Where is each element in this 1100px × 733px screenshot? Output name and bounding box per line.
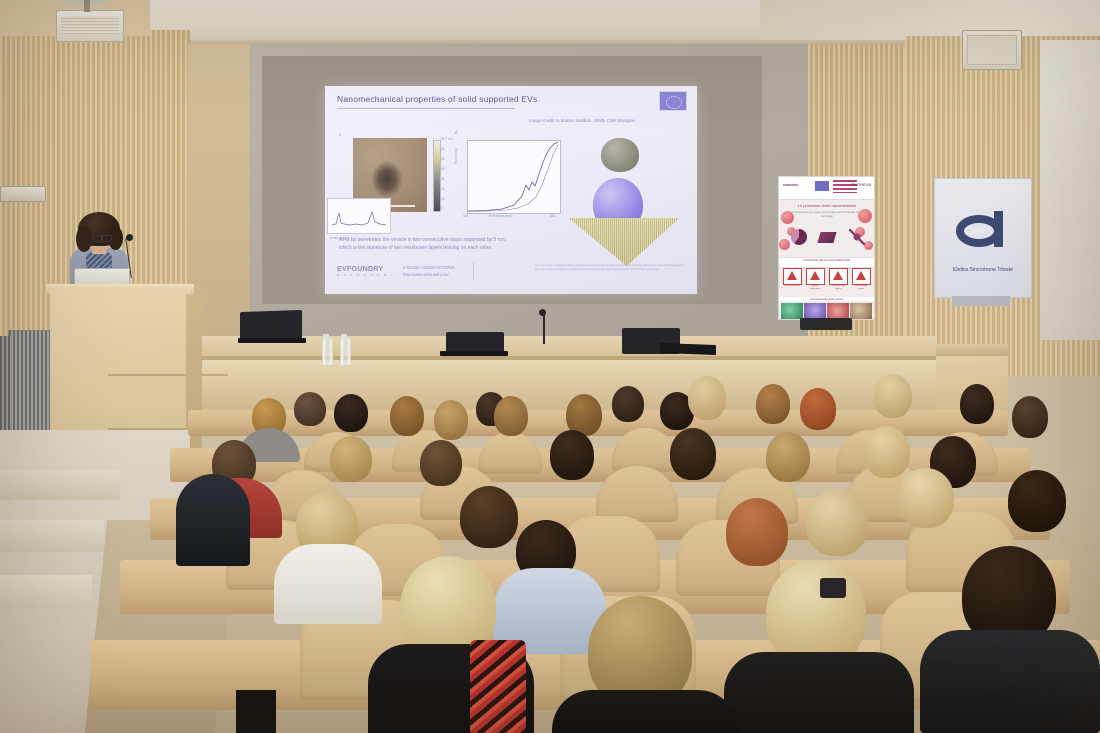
hazard-icon-4: [852, 268, 871, 285]
presenter-hair-left: [76, 226, 92, 252]
elettra-logo-icon: [954, 207, 1012, 251]
audience-head: [874, 374, 912, 418]
projector-vent-icon: [61, 16, 119, 34]
poster-brand: DIATHEVA: [852, 182, 871, 187]
audience-shoulders: [274, 544, 382, 624]
force-curve-xmin: 100: [463, 214, 468, 218]
audience-head: [756, 384, 790, 424]
hair-clip: [820, 578, 846, 598]
audience-head: [898, 468, 954, 528]
project-url: http://www.evfoundry.eu/: [403, 272, 455, 279]
micrograph-2: [804, 303, 826, 319]
audience-shoulders: [176, 474, 250, 566]
footer-divider: [473, 262, 474, 280]
audience-head: [494, 396, 528, 436]
audience-head: [806, 490, 868, 556]
poster-icon-row: [787, 229, 867, 251]
audience-shoulders-foreground: [552, 690, 738, 733]
water-bottle-2-cap: [341, 334, 347, 339]
audience-shoulders-foreground: [920, 630, 1100, 733]
hazard-label-4: effetti a lungo termine: [852, 285, 870, 291]
audience-head: [1008, 470, 1066, 532]
cbar-tick-1: 60: [441, 147, 445, 151]
poster-stand: [800, 318, 852, 330]
audience-head: [550, 430, 594, 480]
audience-head: [390, 396, 424, 436]
hazard-icon-3: [829, 268, 848, 285]
audience-head: [612, 386, 644, 422]
laptop-center-base: [440, 351, 508, 356]
elettra-banner: Elettra Sincrotrone Trieste: [934, 178, 1032, 298]
micrograph-1: [781, 303, 803, 319]
slide-title: Nanomechanical properties of solid suppo…: [337, 94, 538, 104]
substrate-icon: [561, 218, 687, 266]
force-curve-trace-icon: [468, 141, 560, 213]
slide-footer: EVFOUNDRY E V F O U N D R Y # 801367 H20…: [325, 260, 697, 286]
hazard-label-3: accumulo negli organi: [829, 285, 847, 291]
presenter-glasses-icon: [92, 234, 112, 240]
water-bottle-1-cap: [323, 334, 329, 339]
projector-mount-pole: [84, 0, 90, 12]
audience-head: [960, 384, 994, 424]
force-curve-xmax: 300: [550, 214, 555, 218]
slide-card-icon: [817, 232, 836, 243]
elettra-banner-stand: [952, 296, 1010, 306]
hazard-label-1: tossicita cellulare: [783, 285, 801, 288]
water-bottle-1: [322, 338, 333, 366]
cbar-tick-5: 20: [441, 187, 445, 191]
image-credit: Image credit to Matteo Balduni, ISMN CNR…: [529, 118, 659, 125]
poster-eu-flag-icon: [815, 181, 829, 191]
micrograph-4: [850, 303, 872, 319]
force-curve-xlabel: Extension (nm): [489, 214, 512, 218]
poster-band-1: SOSTANZE DELLE NANOMEDICINE: [779, 258, 874, 262]
poster-title: Le promesse delle nanomedicine: [787, 203, 867, 208]
seat-back: [478, 432, 542, 474]
afm-profile-inset: Profile (nm): [327, 198, 391, 234]
audience-head: [1012, 396, 1048, 438]
audience-head: [334, 394, 368, 432]
poster-subtitle: Un'introduzione per capire potenzialita …: [789, 211, 865, 219]
cbar-tick-2: 50: [441, 157, 445, 161]
panel-c-label: c: [339, 132, 341, 137]
audience-head: [864, 426, 910, 478]
evfoundry-logo: EVFOUNDRY E V F O U N D R Y: [337, 266, 395, 277]
nanomedicine-poster: nanotec DIATHEVA Le promesse delle nanom…: [778, 176, 875, 320]
hazard-icon-2: [806, 268, 825, 285]
force-curve-ylabel: Force (nN): [454, 148, 458, 164]
micrograph-row: [781, 303, 872, 319]
lecture-hall-photograph: Nanomechanical properties of solid suppo…: [0, 0, 1100, 733]
hazard-label-row: tossicita cellulare risposta immunitaria…: [783, 285, 870, 297]
poster-header: nanotec DIATHEVA: [779, 177, 874, 200]
audience-head: [688, 376, 726, 420]
hazard-icon-row: [783, 268, 870, 284]
audience-head: [330, 436, 372, 482]
eu-flag-icon: [659, 91, 687, 111]
desk-microphone-stand: [543, 314, 545, 344]
profile-trace-icon: [332, 207, 386, 227]
audience-head: [766, 432, 810, 482]
grant-info: # 801367 H2020-FETOPEN http://www.evfoun…: [403, 265, 455, 278]
cbar-tick-3: 40: [441, 167, 445, 171]
water-bottle-2: [340, 338, 351, 366]
poster-blob-1: [781, 211, 794, 224]
panel-d-force-curve: d Force (nN) Extension (nm) 100 300: [455, 134, 563, 230]
wall-speaker-right: [962, 30, 1022, 70]
pie-chart-icon: [791, 229, 807, 245]
hazard-icon-1: [783, 268, 802, 285]
audience-head: [800, 388, 836, 430]
cbar-tick-0: 80.7 nm: [441, 137, 453, 141]
cbar-tick-4: 30: [441, 177, 445, 181]
micrograph-3: [827, 303, 849, 319]
audience-head: [726, 498, 788, 566]
cbar-tick-7: 0: [441, 206, 443, 210]
evfoundry-logo-sub: E V F O U N D R Y: [337, 273, 395, 277]
cbar-tick-6: 10: [441, 197, 445, 201]
confidentiality-disclaimer: The information contained in these docum…: [535, 264, 683, 272]
poster-blob-4: [858, 209, 872, 223]
podium-microphone-head: [126, 234, 133, 241]
force-curve-axes: [467, 140, 561, 214]
slide-title-underline: [337, 108, 515, 109]
audience-head: [460, 486, 518, 548]
patterned-scarf: [470, 640, 526, 733]
elettra-banner-text: Elettra Sincrotrone Trieste: [935, 267, 1031, 273]
panel-d-label: d: [455, 130, 458, 135]
molecule-icon: [849, 229, 865, 245]
laptop-left-base: [238, 338, 306, 343]
audience-shoulders-foreground: [724, 652, 914, 733]
audience-head: [434, 400, 468, 440]
laptop-right-base: [660, 343, 716, 355]
presentation-slide: Nanomechanical properties of solid suppo…: [325, 86, 697, 294]
foreground-bag: [236, 690, 276, 733]
vesicle-3d-render: [565, 134, 685, 252]
panel-c-afm-image: c 80.7 nm 60 50 40 30 20 10 0 Profile (: [339, 138, 447, 230]
wall-speaker-left: [0, 186, 46, 202]
hazard-label-2: risposta immunitaria: [806, 285, 824, 291]
audience-head: [294, 392, 326, 426]
afm-colorbar: [433, 140, 441, 212]
slide-body-text: AFM tip penetrates the vesicle in two co…: [339, 236, 507, 252]
poster-band-2: Nanoparticelle della natura: [779, 297, 874, 301]
ceiling-projector: [56, 10, 124, 42]
audience-head: [420, 440, 462, 486]
right-doorway: [1040, 40, 1100, 340]
poster-logo: nanotec: [783, 182, 798, 187]
afm-tip-icon: [601, 138, 639, 172]
audience-head: [670, 428, 716, 480]
